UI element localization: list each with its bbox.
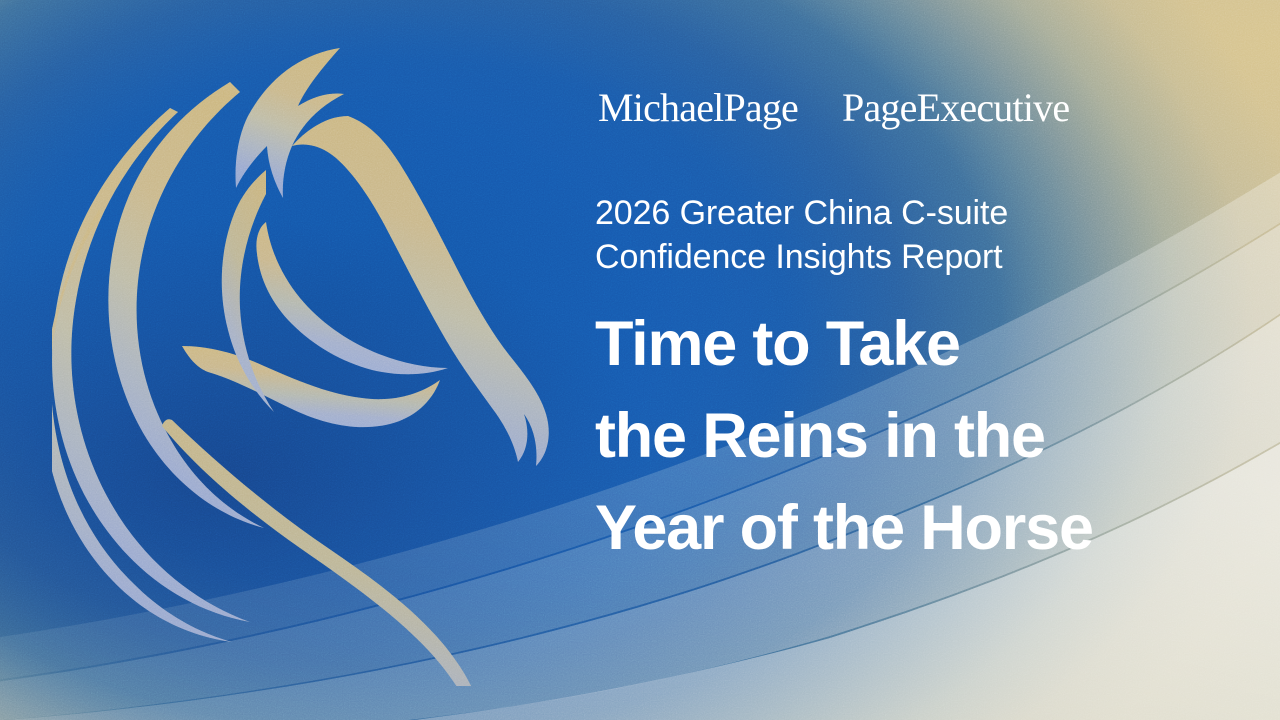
headline-line-1: Time to Take bbox=[595, 312, 1215, 404]
headline-line-3: Year of the Horse bbox=[595, 496, 1215, 561]
brand-logo-lockup: MichaelPage PageExecutive bbox=[598, 88, 1069, 128]
report-cover: MichaelPage PageExecutive 2026 Greater C… bbox=[0, 0, 1280, 720]
report-headline: Time to Take the Reins in the Year of th… bbox=[595, 312, 1215, 561]
page-executive-logo: PageExecutive bbox=[842, 88, 1069, 128]
cover-text-block: MichaelPage PageExecutive 2026 Greater C… bbox=[595, 0, 1235, 720]
report-subtitle: 2026 Greater China C-suite Confidence In… bbox=[595, 192, 1155, 279]
horse-head-logo bbox=[52, 46, 572, 686]
michael-page-logo: MichaelPage bbox=[598, 88, 798, 128]
horse-neck bbox=[162, 419, 484, 686]
subtitle-line-2: Confidence Insights Report bbox=[595, 236, 1155, 280]
headline-line-2: the Reins in the bbox=[595, 404, 1215, 496]
subtitle-line-1: 2026 Greater China C-suite bbox=[595, 192, 1155, 236]
horse-muzzle bbox=[182, 346, 440, 427]
